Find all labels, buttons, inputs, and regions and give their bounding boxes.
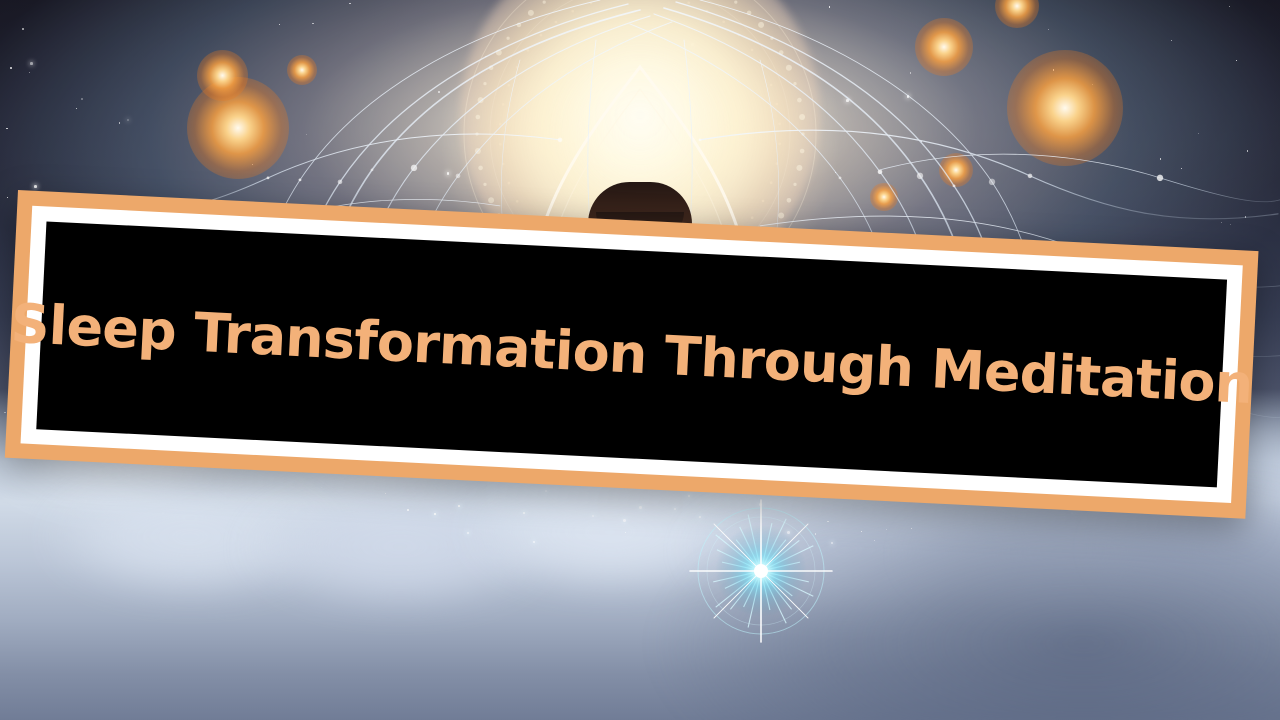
neural-node: [338, 180, 343, 185]
neural-node: [456, 174, 461, 179]
slide-canvas: Sleep Transformation Through Meditation: [0, 0, 1280, 720]
neural-node: [878, 170, 883, 175]
neural-node: [267, 176, 270, 179]
neural-node: [299, 178, 302, 181]
neural-node: [371, 168, 374, 171]
sparkle-dust: [874, 540, 875, 541]
sparkle-dust: [545, 490, 547, 492]
neural-node: [1157, 175, 1163, 181]
banner-white-frame: Sleep Transformation Through Meditation: [21, 206, 1243, 503]
page-title: Sleep Transformation Through Meditation: [9, 296, 1253, 414]
banner-black-panel: Sleep Transformation Through Meditation: [36, 221, 1227, 487]
neural-node: [989, 179, 995, 185]
neural-node: [917, 173, 923, 179]
sparkle-dust: [639, 506, 642, 509]
cyan-starburst: [688, 498, 834, 644]
sparkle-dust: [623, 519, 626, 522]
neural-node: [953, 184, 956, 187]
sparkle-dust: [861, 531, 862, 532]
sparkle-dust: [688, 495, 690, 497]
neural-node: [839, 176, 842, 179]
sparkle-dust: [407, 509, 408, 510]
sparkle-dust: [467, 532, 469, 534]
neural-node: [411, 165, 417, 171]
neural-node: [1028, 174, 1033, 179]
